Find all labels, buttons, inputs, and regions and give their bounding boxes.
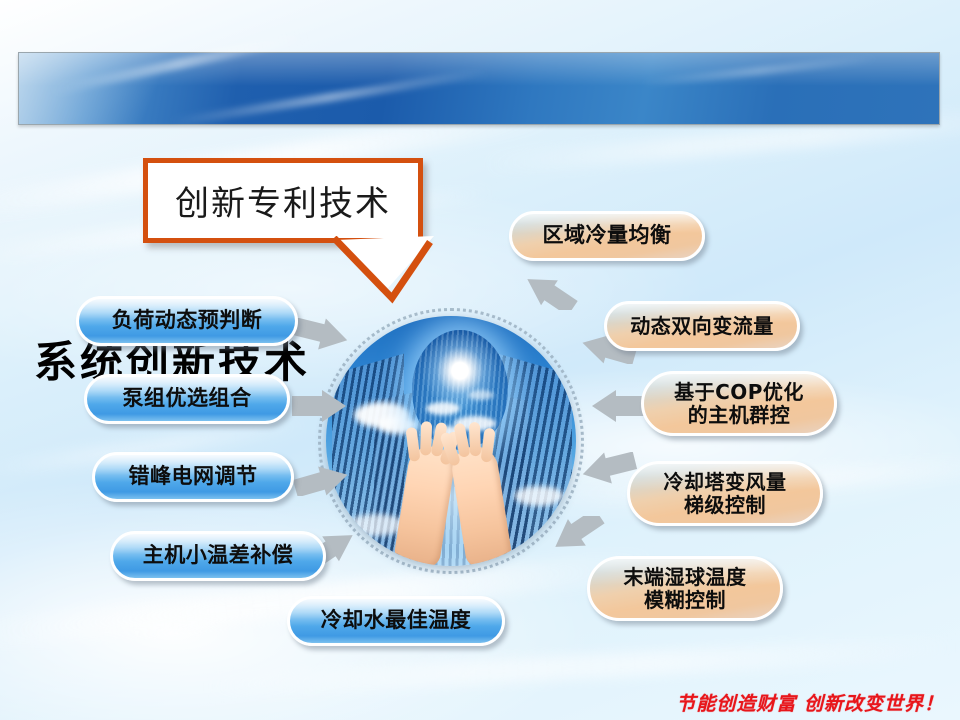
title-banner [18, 52, 940, 125]
pill-pump-group-optimal-combination[interactable]: 泵组优选组合 [84, 374, 290, 424]
finger-shape [469, 422, 481, 456]
pill-terminal-wet-bulb-fuzzy-control[interactable]: 末端湿球温度 模糊控制 [587, 556, 783, 621]
hands-holding-globe-image [326, 316, 576, 566]
callout-box: 创新专利技术 [143, 158, 423, 243]
arrow-icon-right-3 [588, 388, 648, 428]
callout-label: 创新专利技术 [148, 163, 418, 238]
pill-label: 主机小温差补偿 [143, 544, 294, 568]
slide-canvas: 系统创新技术 创新专利技术 [0, 0, 960, 720]
pill-peak-shifting-grid-regulation[interactable]: 错峰电网调节 [92, 452, 294, 502]
pill-label-line2: 的主机群控 [688, 404, 791, 426]
pill-label-line1: 末端湿球温度 [624, 566, 747, 588]
pill-label-line1: 基于COP优化 [674, 381, 804, 403]
pill-label-line2: 模糊控制 [644, 589, 726, 611]
pill-label-line1: 冷却塔变风量 [664, 471, 787, 493]
pill-load-dynamic-prediction[interactable]: 负荷动态预判断 [76, 296, 298, 346]
globe-cloud [426, 402, 460, 415]
pill-label: 泵组优选组合 [123, 387, 252, 411]
cloud-shape [514, 486, 564, 506]
footer-slogan: 节能创造财富 创新改变世界！ [676, 689, 944, 716]
pill-cooling-tower-variable-air-volume[interactable]: 冷却塔变风量 梯级控制 [627, 461, 823, 526]
pill-cop-based-chiller-group-control[interactable]: 基于COP优化 的主机群控 [641, 371, 837, 436]
pill-regional-cooling-balance[interactable]: 区域冷量均衡 [509, 211, 705, 261]
pill-label-line2: 梯级控制 [684, 494, 766, 516]
pill-label: 区域冷量均衡 [543, 224, 672, 248]
pill-label: 冷却水最佳温度 [321, 609, 472, 633]
center-image-wrap [326, 316, 576, 566]
pill-cooling-water-optimal-temperature[interactable]: 冷却水最佳温度 [287, 596, 505, 646]
pill-label: 错峰电网调节 [129, 465, 258, 489]
pill-chiller-small-temp-diff-compensation[interactable]: 主机小温差补偿 [110, 531, 326, 581]
pill-label: 动态双向变流量 [630, 315, 774, 337]
pill-label: 负荷动态预判断 [112, 309, 263, 333]
arrow-icon-right-1 [520, 262, 580, 310]
globe-cloud [468, 390, 494, 400]
pill-dynamic-bidirectional-variable-flow[interactable]: 动态双向变流量 [604, 301, 800, 351]
